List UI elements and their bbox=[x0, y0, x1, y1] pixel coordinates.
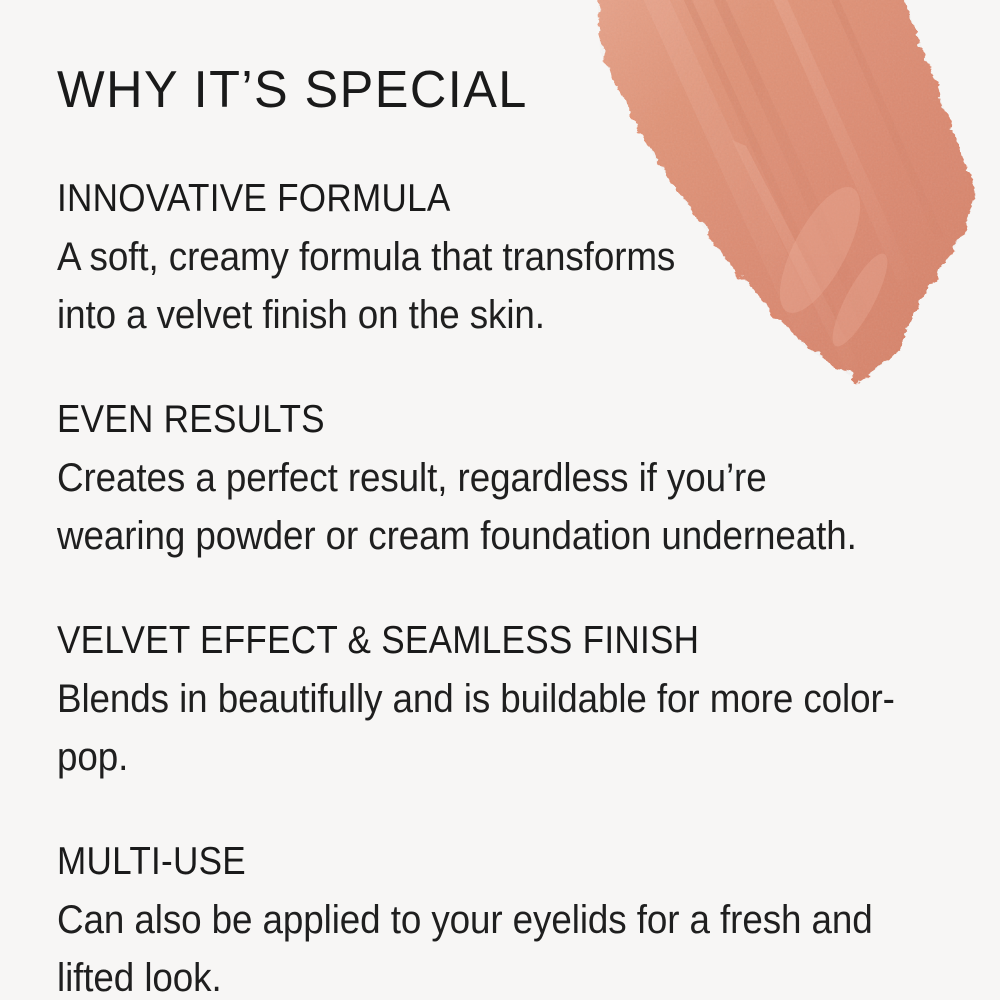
body-line: pop. bbox=[57, 728, 885, 786]
section-body: A soft, creamy formula that transforms i… bbox=[57, 228, 885, 344]
feature-section-even-results: EVEN RESULTS Creates a perfect result, r… bbox=[57, 399, 957, 565]
section-body: Creates a perfect result, regardless if … bbox=[57, 449, 885, 565]
feature-section-multi-use: MULTI-USE Can also be applied to your ey… bbox=[57, 841, 957, 1000]
section-title: INNOVATIVE FORMULA bbox=[57, 178, 867, 220]
body-line: Can also be applied to your eyelids for … bbox=[57, 891, 885, 949]
page-title: WHY IT’S SPECIAL bbox=[57, 0, 930, 116]
body-line: wearing powder or cream foundation under… bbox=[57, 507, 885, 565]
section-body: Can also be applied to your eyelids for … bbox=[57, 891, 885, 1000]
body-line: lifted look. bbox=[57, 949, 885, 1000]
section-body: Blends in beautifully and is buildable f… bbox=[57, 670, 885, 786]
section-title: EVEN RESULTS bbox=[57, 399, 867, 441]
body-line: Creates a perfect result, regardless if … bbox=[57, 449, 885, 507]
body-line: Blends in beautifully and is buildable f… bbox=[57, 670, 885, 728]
body-line: into a velvet finish on the skin. bbox=[57, 286, 885, 344]
body-line: A soft, creamy formula that transforms bbox=[57, 228, 885, 286]
feature-section-velvet-effect: VELVET EFFECT & SEAMLESS FINISH Blends i… bbox=[57, 620, 957, 786]
section-title: MULTI-USE bbox=[57, 841, 867, 883]
product-feature-panel: WHY IT’S SPECIAL INNOVATIVE FORMULA A so… bbox=[0, 0, 1000, 1000]
section-title: VELVET EFFECT & SEAMLESS FINISH bbox=[57, 620, 867, 662]
feature-text-column: WHY IT’S SPECIAL INNOVATIVE FORMULA A so… bbox=[57, 0, 957, 1000]
feature-section-innovative-formula: INNOVATIVE FORMULA A soft, creamy formul… bbox=[57, 178, 957, 344]
